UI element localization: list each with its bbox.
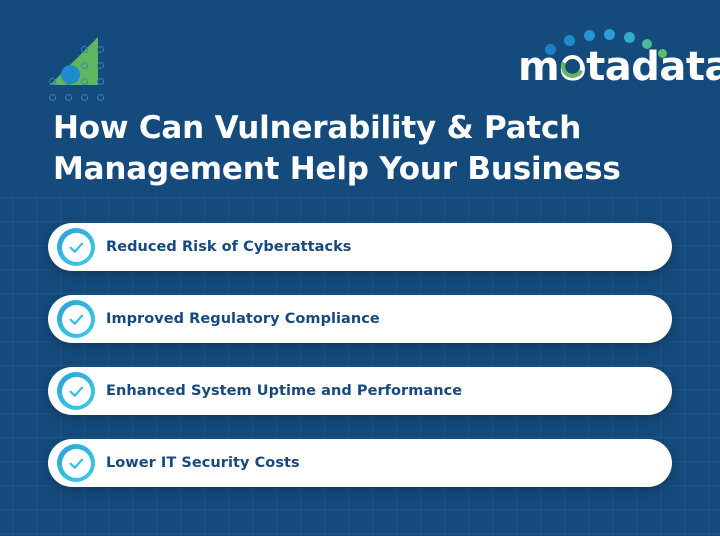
check-circle-icon <box>57 300 95 338</box>
page-title: How Can Vulnerability & Patch Management… <box>53 108 653 190</box>
wordmark-arc-dot <box>584 30 595 41</box>
benefit-card[interactable]: Lower IT Security Costs <box>48 439 672 487</box>
check-circle-icon <box>57 372 95 410</box>
logo-grid-dot <box>49 94 56 101</box>
logo-grid-dot <box>97 46 104 53</box>
motadata-logo-mark <box>50 31 106 89</box>
wordmark-arc-dot <box>604 29 615 40</box>
logo-grid-dot <box>65 78 72 85</box>
benefits-list: Reduced Risk of Cyberattacks Improved Re… <box>48 223 672 511</box>
benefit-label: Improved Regulatory Compliance <box>106 311 380 327</box>
benefit-card[interactable]: Enhanced System Uptime and Performance <box>48 367 672 415</box>
header: motadata <box>0 0 720 110</box>
logo-grid-dot <box>97 78 104 85</box>
wordmark-label: motadata <box>518 44 720 90</box>
logo-grid-dot <box>81 62 88 69</box>
logo-grid-dot <box>97 94 104 101</box>
benefit-label: Lower IT Security Costs <box>106 455 300 471</box>
benefit-label: Reduced Risk of Cyberattacks <box>106 239 352 255</box>
logo-grid-dot <box>81 46 88 53</box>
benefit-card[interactable]: Reduced Risk of Cyberattacks <box>48 223 672 271</box>
logo-grid-dot <box>97 62 104 69</box>
motadata-wordmark: motadata <box>518 26 698 88</box>
logo-grid-dot <box>81 78 88 85</box>
check-circle-icon <box>57 444 95 482</box>
benefit-card[interactable]: Improved Regulatory Compliance <box>48 295 672 343</box>
logo-grid-dot <box>65 94 72 101</box>
infographic-slide: motadata How Can Vulnerability & Patch M… <box>0 0 720 536</box>
benefit-label: Enhanced System Uptime and Performance <box>106 383 462 399</box>
logo-grid-dot <box>49 78 56 85</box>
check-circle-icon <box>57 228 95 266</box>
wordmark-arc-dot <box>624 32 635 43</box>
logo-grid-dot <box>81 94 88 101</box>
